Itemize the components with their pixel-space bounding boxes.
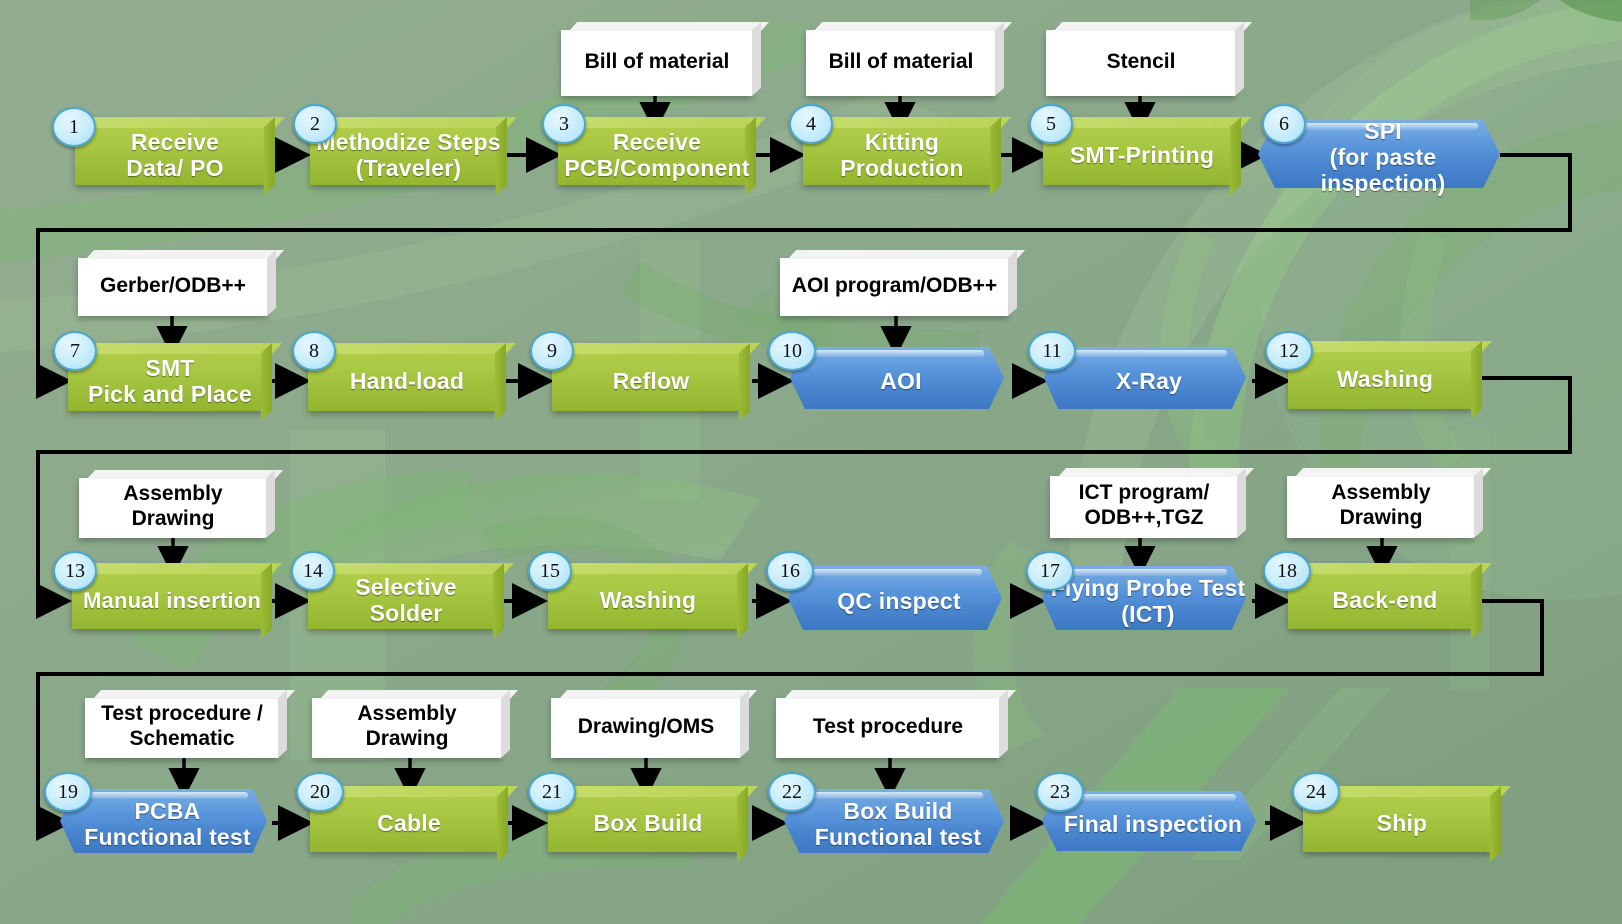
box-side-bevel [737,563,748,639]
document-gerber-odb: Gerber/ODB++ [78,250,276,316]
box-top-bevel [557,786,758,797]
badge-number: 12 [1279,340,1299,363]
box-top-bevel [1052,117,1251,128]
step-label: Box Build [587,811,708,837]
step-22-box-build-functional-test[interactable]: Box BuildFunctional test [784,789,1012,861]
doc-top-bevel [559,690,757,699]
document-test-procedure-schematic: Test procedure /Schematic [85,690,287,758]
step-label: Manual insertion [77,589,267,614]
doc-top-bevel [1058,468,1254,477]
step-number-badge-6: 6 [1262,104,1306,144]
step-label: ReceiveData/ PO [120,130,229,182]
badge-number: 13 [65,560,85,583]
step-18-back-end[interactable]: Back-end [1288,563,1482,639]
step-number-badge-12: 12 [1265,331,1313,371]
doc-top-bevel [320,690,518,699]
step-number-badge-23: 23 [1036,772,1084,812]
step-label: SMTPick and Place [82,356,258,408]
step-17-flying-probe-test-ict[interactable]: Flying Probe Test(ICT) [1042,566,1254,638]
doc-side-bevel [1008,250,1017,316]
doc-side-bevel [1474,468,1483,538]
step-number-badge-13: 13 [53,551,97,591]
box-top-bevel [319,786,518,797]
step-number-badge-1: 1 [52,107,96,147]
box-side-bevel [264,117,275,195]
step-number-badge-20: 20 [296,772,344,812]
badge-number: 3 [559,113,569,136]
document-bill-of-material-2: Bill of material [806,22,1004,96]
step-number-badge-4: 4 [789,104,833,144]
step-label: Washing [1331,367,1439,393]
doc-top-bevel [784,690,1016,699]
box-top-bevel [319,117,517,128]
step-2-methodize-steps[interactable]: Methodize Steps(Traveler) [310,117,507,195]
document-ict-program: ICT program/ODB++,TGZ [1050,468,1246,538]
doc-top-bevel [1054,22,1252,31]
box-side-bevel [739,343,750,421]
box-top-bevel [561,343,760,354]
badge-number: 2 [310,113,320,136]
hex-gloss [810,350,984,357]
step-number-badge-3: 3 [542,104,586,144]
step-1-receive-data-po[interactable]: ReceiveData/ PO [75,117,275,195]
badge-number: 22 [782,781,802,804]
box-top-bevel [1297,341,1492,352]
box-top-bevel [557,563,758,574]
badge-number: 24 [1306,781,1326,804]
doc-side-bevel [501,690,510,758]
document-label: Stencil [1099,50,1184,75]
step-label: AOI [874,369,928,395]
box-top-bevel [317,343,516,354]
step-label: Box BuildFunctional test [809,799,988,851]
doc-side-bevel [995,22,1004,96]
document-assembly-drawing-2: AssemblyDrawing [1287,468,1483,538]
badge-number: 21 [542,781,562,804]
doc-top-bevel [93,690,295,699]
box-side-bevel [990,117,1001,195]
step-label: Ship [1371,811,1434,837]
document-label: Bill of material [821,50,982,75]
step-number-badge-22: 22 [768,772,816,812]
doc-side-bevel [999,690,1008,758]
step-11-x-ray[interactable]: X-Ray [1044,347,1254,417]
step-number-badge-15: 15 [528,551,572,591]
doc-side-bevel [740,690,749,758]
document-label: Bill of material [577,50,738,75]
badge-number: 9 [547,340,557,363]
document-test-procedure: Test procedure [776,690,1008,758]
step-number-badge-8: 8 [292,331,336,371]
document-assembly-drawing-1: AssemblyDrawing [79,470,275,538]
step-number-badge-10: 10 [768,331,816,371]
step-12-washing[interactable]: Washing [1288,341,1482,419]
document-bill-of-material-1: Bill of material [561,22,761,96]
step-10-aoi[interactable]: AOI [790,347,1012,417]
badge-number: 8 [309,340,319,363]
badge-number: 23 [1050,781,1070,804]
badge-number: 14 [303,560,323,583]
document-label: Test procedure /Schematic [93,702,271,752]
step-3-receive-pcb-component[interactable]: ReceivePCB/Component [558,117,756,195]
badge-number: 5 [1046,113,1056,136]
box-side-bevel [495,343,506,421]
step-number-badge-2: 2 [293,104,337,144]
step-label: X-Ray [1110,369,1188,395]
box-side-bevel [1471,563,1482,639]
badge-number: 17 [1040,560,1060,583]
step-21-box-build[interactable]: Box Build [548,786,748,862]
step-8-hand-load[interactable]: Hand-load [308,343,506,421]
step-label: KittingProduction [834,130,969,182]
badge-number: 16 [780,560,800,583]
step-number-badge-14: 14 [291,551,335,591]
doc-side-bevel [1237,468,1246,538]
badge-number: 6 [1279,113,1289,136]
document-assembly-drawing-3: AssemblyDrawing [312,690,510,758]
step-label: PCBAFunctional test [78,799,257,851]
step-number-badge-5: 5 [1029,104,1073,144]
box-top-bevel [317,563,514,574]
doc-top-bevel [1295,468,1491,477]
doc-top-bevel [569,22,769,31]
step-7-smt-pick-and-place[interactable]: SMTPick and Place [68,343,272,421]
badge-number: 1 [69,116,79,139]
step-19-pcba-functional-test[interactable]: PCBAFunctional test [60,789,275,861]
step-label: ReceivePCB/Component [558,130,755,182]
doc-side-bevel [278,690,287,758]
badge-number: 18 [1277,560,1297,583]
doc-top-bevel [788,250,1025,259]
step-9-reflow[interactable]: Reflow [552,343,750,421]
hex-gloss [1062,794,1236,801]
step-label: Hand-load [344,369,470,395]
step-4-kitting-production[interactable]: KittingProduction [803,117,1001,195]
doc-top-bevel [87,470,283,479]
box-side-bevel [261,343,272,421]
step-label: Flying Probe Test(ICT) [1045,576,1252,628]
step-15-washing[interactable]: Washing [548,563,748,639]
box-top-bevel [567,117,766,128]
box-side-bevel [1471,341,1482,419]
step-number-badge-19: 19 [44,772,92,812]
box-side-bevel [493,563,504,639]
step-number-badge-17: 17 [1026,551,1074,591]
document-label: AssemblyDrawing [1323,481,1438,531]
step-16-qc-inspect[interactable]: QC inspect [788,566,1010,638]
doc-side-bevel [752,22,761,96]
box-top-bevel [1297,563,1492,574]
step-number-badge-16: 16 [766,551,814,591]
badge-number: 10 [782,340,802,363]
doc-side-bevel [1235,22,1244,96]
badge-number: 4 [806,113,816,136]
step-number-badge-18: 18 [1263,551,1311,591]
box-side-bevel [1490,786,1501,862]
step-label: Methodize Steps(Traveler) [310,130,506,182]
hex-gloss [808,569,982,576]
document-label: Drawing/OMS [570,715,723,740]
box-top-bevel [81,563,282,574]
step-number-badge-7: 7 [53,331,97,371]
step-13-manual-insertion[interactable]: Manual insertion [72,563,272,639]
step-label: SelectiveSolder [349,575,463,627]
document-aoi-program: AOI program/ODB++ [780,250,1017,316]
step-number-badge-21: 21 [528,772,576,812]
doc-side-bevel [267,250,276,316]
process-flow-diagram: Bill of material Bill of material Stenci… [0,0,1622,924]
document-label: AssemblyDrawing [115,482,230,532]
document-stencil: Stencil [1046,22,1244,96]
step-label: Washing [594,588,702,614]
document-label: AOI program/ODB++ [784,274,1005,299]
document-label: AssemblyDrawing [349,702,464,752]
step-label: Final inspection [1058,812,1248,838]
step-label: QC inspect [831,589,966,615]
step-5-smt-printing[interactable]: SMT-Printing [1043,117,1241,195]
box-top-bevel [77,343,282,354]
box-top-bevel [812,117,1011,128]
document-label: ICT program/ODB++,TGZ [1071,481,1218,531]
box-top-bevel [1312,786,1511,797]
badge-number: 15 [540,560,560,583]
step-label: Back-end [1326,588,1443,614]
badge-number: 20 [310,781,330,804]
doc-top-bevel [814,22,1012,31]
doc-top-bevel [86,250,284,259]
hex-gloss [1063,350,1227,357]
badge-number: 11 [1042,340,1061,363]
step-label: Cable [371,811,447,837]
step-14-selective-solder[interactable]: SelectiveSolder [308,563,504,639]
box-top-bevel [84,117,285,128]
badge-number: 7 [70,340,80,363]
badge-number: 19 [58,781,78,804]
box-side-bevel [737,786,748,862]
doc-side-bevel [266,470,275,538]
step-number-badge-11: 11 [1028,331,1076,371]
document-drawing-oms: Drawing/OMS [551,690,749,758]
step-number-badge-9: 9 [530,331,574,371]
box-side-bevel [497,786,508,862]
step-label: Reflow [607,369,696,395]
document-label: Test procedure [805,715,971,740]
step-label: SMT-Printing [1064,143,1220,169]
document-label: Gerber/ODB++ [92,274,254,299]
step-number-badge-24: 24 [1292,772,1340,812]
box-side-bevel [1230,117,1241,195]
